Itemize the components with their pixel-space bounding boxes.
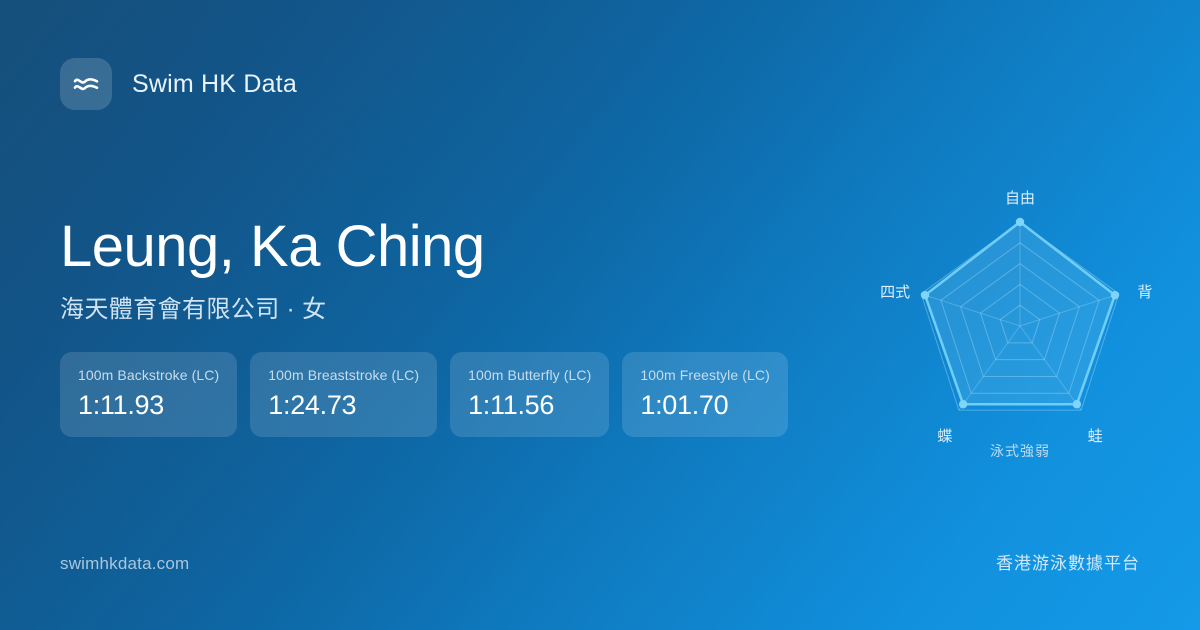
page-title: Leung, Ka Ching xyxy=(60,216,860,279)
event-label: 100m Breaststroke (LC) xyxy=(268,367,419,383)
radar-area-fill xyxy=(925,222,1115,404)
radar-data-point xyxy=(1016,218,1024,226)
event-time: 1:11.56 xyxy=(468,390,591,421)
event-card: 100m Backstroke (LC) 1:11.93 xyxy=(60,352,237,437)
athlete-meta: 海天體育會有限公司 · 女 xyxy=(60,289,860,324)
radar-data-point xyxy=(1073,400,1081,408)
radar-data-point xyxy=(959,400,967,408)
radar-caption: 泳式強弱 xyxy=(860,441,1180,461)
event-card: 100m Butterfly (LC) 1:11.56 xyxy=(450,352,609,437)
radar-axis-label: 背 xyxy=(1137,284,1152,301)
og-card: Swim HK Data Leung, Ka Ching 海天體育會有限公司 ·… xyxy=(0,0,1200,630)
radar-data-point xyxy=(1111,291,1119,299)
event-cards: 100m Backstroke (LC) 1:11.93 100m Breast… xyxy=(60,352,788,437)
event-card: 100m Freestyle (LC) 1:01.70 xyxy=(622,352,788,437)
radar-axis-label: 四式 xyxy=(880,284,910,301)
brand-name: Swim HK Data xyxy=(132,70,297,99)
radar-axis-label: 自由 xyxy=(1005,190,1035,207)
radar-chart: 自由背蛙蝶四式 xyxy=(860,160,1180,480)
event-time: 1:24.73 xyxy=(268,390,419,421)
hero: Leung, Ka Ching 海天體育會有限公司 · 女 xyxy=(60,216,860,324)
wave-icon xyxy=(60,58,112,110)
brand: Swim HK Data xyxy=(60,58,297,110)
radar-data-point xyxy=(921,291,929,299)
event-label: 100m Butterfly (LC) xyxy=(468,367,591,383)
footer-site: swimhkdata.com xyxy=(60,554,189,574)
footer-tagline: 香港游泳數據平台 xyxy=(996,549,1140,574)
event-time: 1:01.70 xyxy=(640,390,770,421)
event-label: 100m Freestyle (LC) xyxy=(640,367,770,383)
event-label: 100m Backstroke (LC) xyxy=(78,367,219,383)
event-card: 100m Breaststroke (LC) 1:24.73 xyxy=(250,352,437,437)
event-time: 1:11.93 xyxy=(78,390,219,421)
